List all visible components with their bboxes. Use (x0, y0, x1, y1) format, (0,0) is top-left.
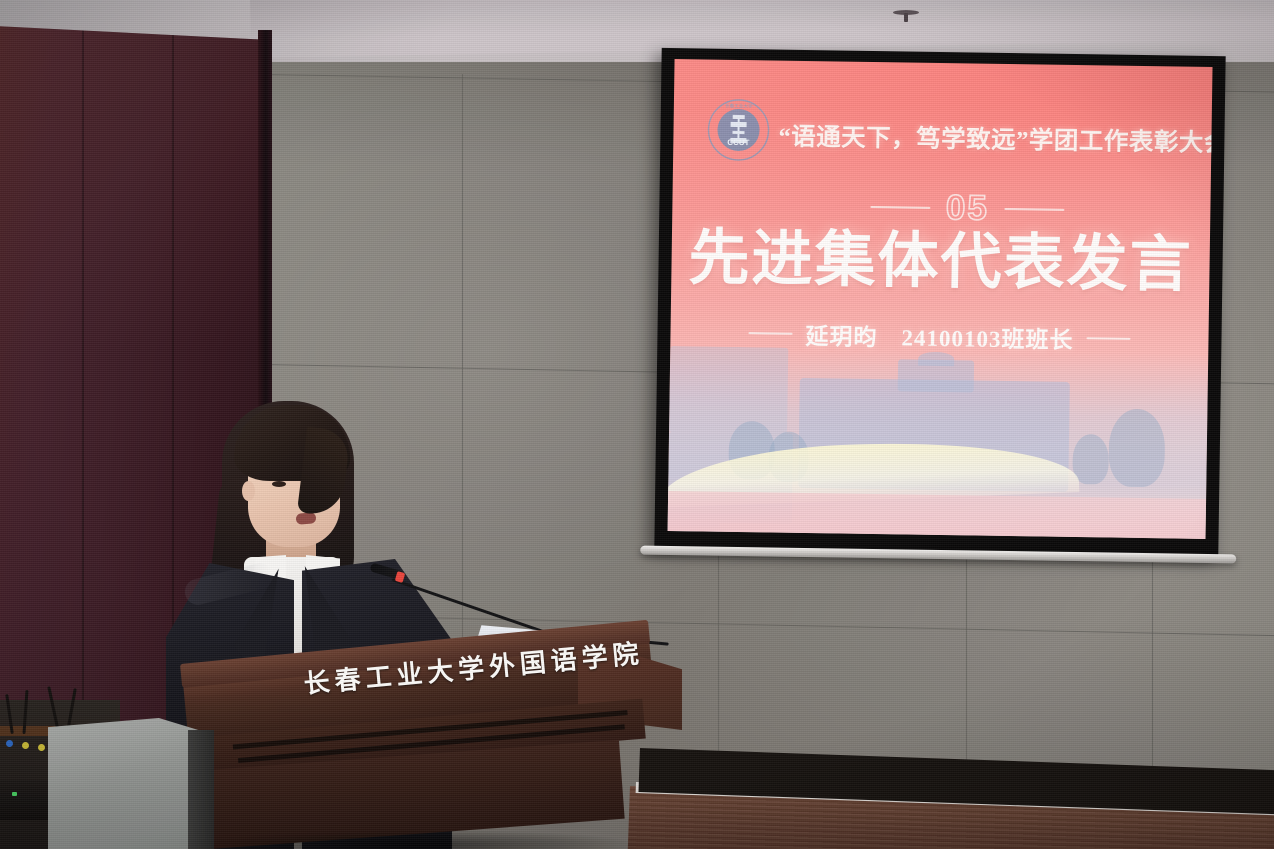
slide-title: 先进集体代表发言 (671, 227, 1210, 299)
podium-shadow (200, 830, 640, 849)
rule-left (870, 206, 930, 209)
lectern-podium: 长春工业大学外国语学院 (180, 620, 678, 849)
ceiling-sprinkler-icon (893, 8, 919, 20)
section-number: 05 (946, 188, 990, 229)
subtitle-rule-left (749, 332, 793, 335)
gray-equipment-box (48, 718, 202, 849)
power-led-indicator (12, 792, 17, 796)
presentation-slide: CCUT 长春工业大学 “语通天下，笃学致远”学团工作表彰大会 05 先进集体代… (668, 59, 1213, 539)
campus-photo-watermark (668, 346, 1209, 539)
svg-text:长春工业大学: 长春工业大学 (725, 102, 753, 109)
slide-subtitle: 延玥昀 24100103班班长 (805, 317, 1073, 355)
ccut-university-seal-icon: CCUT 长春工业大学 (706, 98, 771, 163)
projection-screen[interactable]: CCUT 长春工业大学 “语通天下，笃学致远”学团工作表彰大会 05 先进集体代… (654, 48, 1225, 556)
subtitle-rule-right (1086, 337, 1130, 340)
svg-text:CCUT: CCUT (727, 138, 749, 147)
section-number-row: 05 (812, 183, 1123, 234)
conference-hall-scene: CCUT 长春工业大学 “语通天下，笃学致远”学团工作表彰大会 05 先进集体代… (0, 0, 1274, 849)
rule-right (1005, 208, 1065, 211)
gray-box-side-panel (188, 730, 214, 849)
slide-footer-band (668, 491, 1207, 539)
slide-header-text: “语通天下，笃学致远”学团工作表彰大会 (778, 118, 1208, 159)
ear (242, 481, 255, 501)
